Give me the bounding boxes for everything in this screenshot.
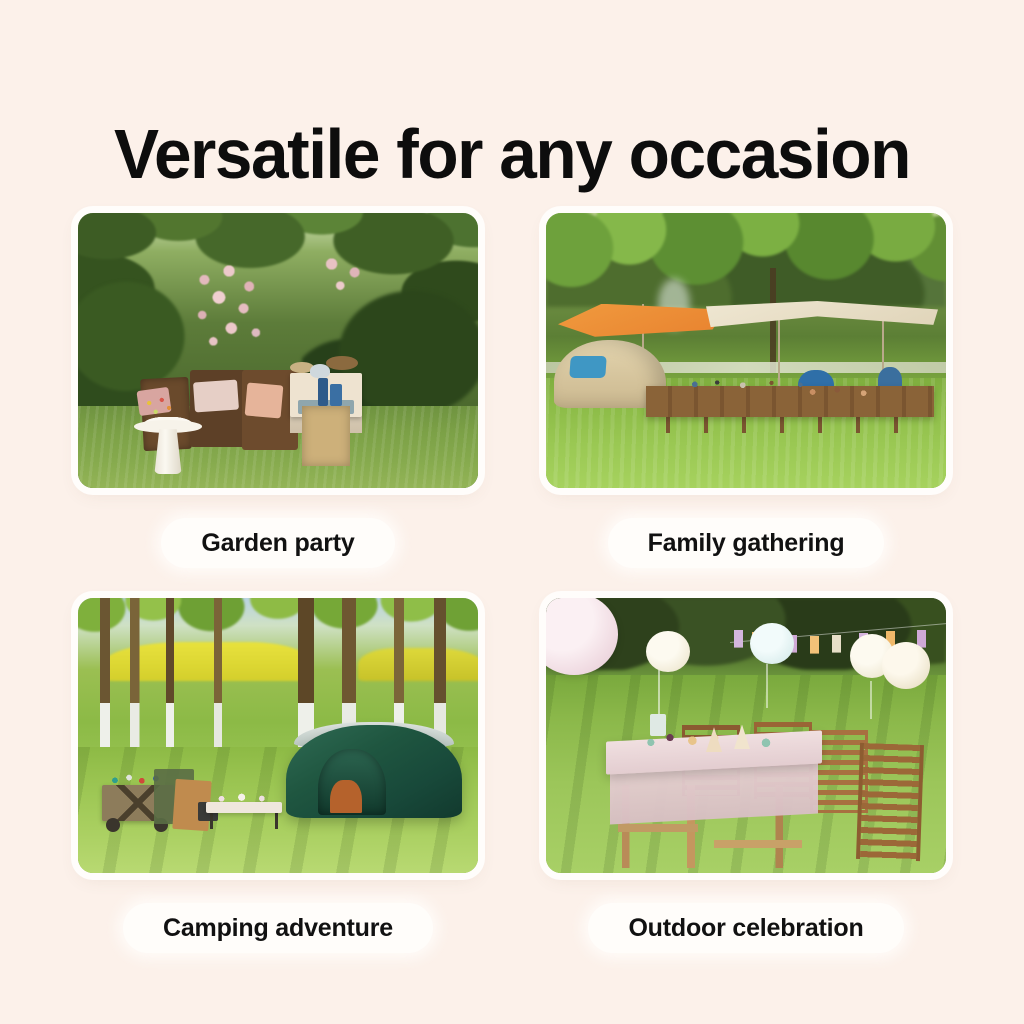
family-gathering-scene xyxy=(546,213,946,488)
occasion-card-outdoor-celebration[interactable]: Outdoor celebration xyxy=(546,598,946,953)
balloon-mint-middle xyxy=(750,623,794,664)
caption-pill-outdoor-celebration: Outdoor celebration xyxy=(588,903,903,953)
chair-cushion-cream xyxy=(193,379,239,412)
balloon-cream-left xyxy=(646,631,690,672)
wagon-wheel-left xyxy=(106,818,120,832)
wooden-stool xyxy=(302,406,350,467)
caption-label-family-gathering: Family gathering xyxy=(648,529,845,558)
camp-table-legs xyxy=(210,813,278,830)
camp-table-items xyxy=(210,791,282,805)
photo-garden-party xyxy=(78,213,478,488)
wooden-folding-chair-4 xyxy=(856,743,924,861)
blue-bottle-second xyxy=(330,384,342,406)
blue-bottle xyxy=(318,378,328,406)
pink-hydrangea-bush xyxy=(182,260,294,370)
occasion-card-garden-party[interactable]: Garden party xyxy=(78,213,478,568)
caption-pill-camping-adventure: Camping adventure xyxy=(123,903,433,953)
white-pedestal-table xyxy=(134,417,202,475)
occasion-card-family-gathering[interactable]: Family gathering xyxy=(546,213,946,568)
occasion-card-grid: Garden party xyxy=(78,213,946,953)
promo-page: Versatile for any occasion xyxy=(0,0,1024,1024)
chair-cushion-peach xyxy=(245,382,284,418)
tent-window xyxy=(569,356,607,378)
photo-outdoor-celebration xyxy=(546,598,946,873)
garden-party-scene xyxy=(78,213,478,488)
pink-hydrangea-cluster xyxy=(310,252,382,313)
page-title: Versatile for any occasion xyxy=(18,119,1006,189)
occasion-card-camping-adventure[interactable]: Camping adventure xyxy=(78,598,478,953)
caption-label-outdoor-celebration: Outdoor celebration xyxy=(628,914,863,943)
outdoor-celebration-scene xyxy=(546,598,946,873)
people-group xyxy=(802,378,890,406)
table-lower-shelf-left xyxy=(618,824,698,832)
camping-adventure-scene xyxy=(78,598,478,873)
balloon-string-right xyxy=(870,681,872,720)
table-lower-shelf-right xyxy=(714,840,802,848)
balloon-cream-far-right xyxy=(882,642,930,689)
caption-label-camping-adventure: Camping adventure xyxy=(163,914,393,943)
caption-pill-family-gathering: Family gathering xyxy=(608,518,885,568)
photo-family-gathering xyxy=(546,213,946,488)
tent-interior-gear xyxy=(330,780,362,813)
photo-camping-adventure xyxy=(78,598,478,873)
drink-cup xyxy=(650,714,666,736)
balloon-string-left xyxy=(658,670,660,714)
teapot xyxy=(310,364,330,378)
caption-label-garden-party: Garden party xyxy=(201,529,354,558)
balloon-string-middle xyxy=(766,664,768,708)
straw-hat xyxy=(326,356,358,370)
caption-pill-garden-party: Garden party xyxy=(161,518,394,568)
